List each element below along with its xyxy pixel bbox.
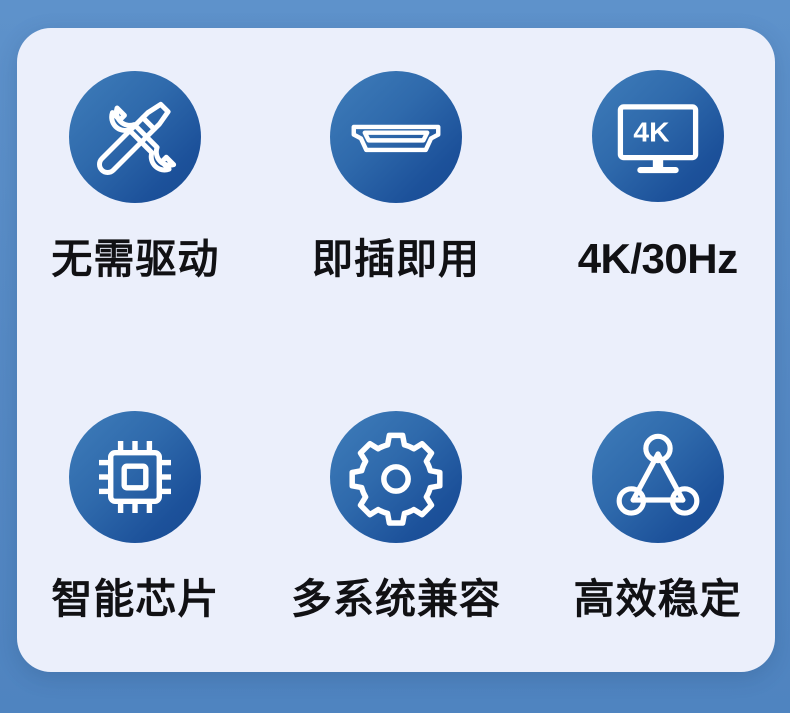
feature-card: 无需驱动 即插即用 <box>17 28 775 672</box>
feature-grid: 无需驱动 即插即用 <box>17 28 775 672</box>
badge-circle <box>330 71 462 203</box>
badge-circle: 4K <box>592 70 724 202</box>
feature-label: 多系统兼容 <box>291 579 501 620</box>
badge-circle <box>330 411 462 543</box>
feature-label: 即插即用 <box>312 239 480 280</box>
feature-label: 智能芯片 <box>51 579 219 620</box>
feature-item-smart-chip: 智能芯片 <box>17 354 270 676</box>
feature-item-stable: 高效稳定 <box>522 354 775 676</box>
network-triangle-icon <box>612 431 704 523</box>
feature-label: 高效稳定 <box>574 579 742 620</box>
feature-item-plug-and-play: 即插即用 <box>270 14 523 336</box>
page-root: 无需驱动 即插即用 <box>0 0 790 713</box>
monitor-4k-text: 4K <box>633 116 670 148</box>
badge-circle <box>69 411 201 543</box>
hdmi-connector-icon <box>348 89 444 185</box>
feature-label: 4K/30Hz <box>578 238 738 280</box>
cpu-chip-icon <box>90 432 180 522</box>
badge-circle <box>69 71 201 203</box>
monitor-4k-icon: 4K <box>611 89 705 183</box>
gear-icon <box>347 428 445 526</box>
feature-item-no-driver: 无需驱动 <box>17 14 270 336</box>
feature-label: 无需驱动 <box>51 239 219 280</box>
feature-item-4k-30hz: 4K 4K/30Hz <box>522 14 775 336</box>
badge-circle <box>592 411 724 543</box>
wrench-screwdriver-icon <box>89 91 181 183</box>
feature-item-multi-os: 多系统兼容 <box>270 354 523 676</box>
